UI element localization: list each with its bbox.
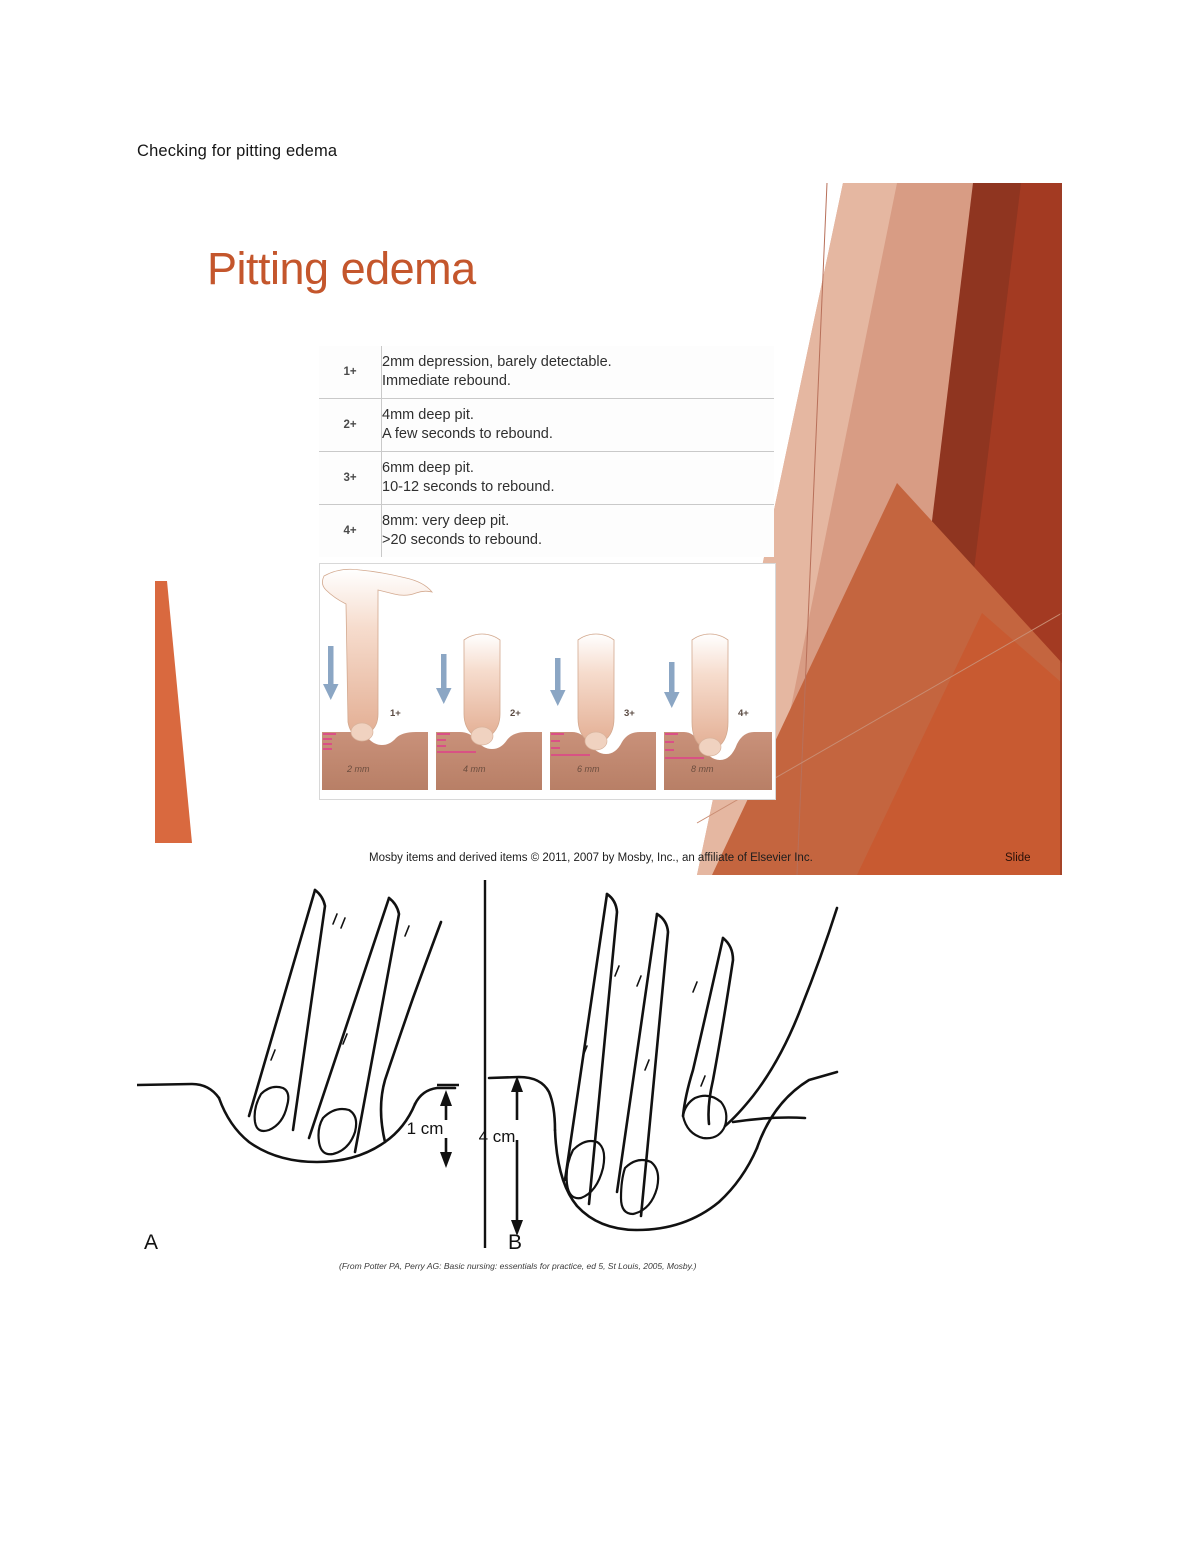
panel-grade-1: 1+ xyxy=(390,708,401,719)
table-row: 3+ 6mm deep pit. 10-12 seconds to reboun… xyxy=(319,452,774,505)
panel-b-measurement-label: 4 cm xyxy=(479,1127,516,1146)
grade-label: 2+ xyxy=(319,399,382,452)
panel-depth-3: 6 mm xyxy=(577,764,600,774)
grade-description: 6mm deep pit. 10-12 seconds to rebound. xyxy=(382,452,775,505)
pitting-edema-grading-table: 1+ 2mm depression, barely detectable. Im… xyxy=(319,346,774,557)
grade-description-line1: 8mm: very deep pit. xyxy=(382,513,509,529)
grade-description: 2mm depression, barely detectable. Immed… xyxy=(382,346,775,399)
grade-description-line2: A few seconds to rebound. xyxy=(382,425,774,444)
grade-description-line1: 6mm deep pit. xyxy=(382,460,474,476)
figure-source-citation: (From Potter PA, Perry AG: Basic nursing… xyxy=(339,1261,696,1271)
grade-description-line2: Immediate rebound. xyxy=(382,372,774,391)
grade-label: 3+ xyxy=(319,452,382,505)
table-row: 4+ 8mm: very deep pit. >20 seconds to re… xyxy=(319,505,774,558)
finger-press-illustration: 1+ 2 mm 2+ 4 mm xyxy=(319,563,776,800)
page-title: Checking for pitting edema xyxy=(137,142,337,161)
grade-description-line2: >20 seconds to rebound. xyxy=(382,531,774,550)
pitting-edema-slide: Pitting edema 1+ 2mm depression, barely … xyxy=(137,183,1062,875)
grade-description-line1: 2mm depression, barely detectable. xyxy=(382,354,612,370)
grade-description-line1: 4mm deep pit. xyxy=(382,407,474,423)
panel-grade-3: 3+ xyxy=(624,708,635,719)
table-row: 1+ 2mm depression, barely detectable. Im… xyxy=(319,346,774,399)
slide-copyright-notice: Mosby items and derived items © 2011, 20… xyxy=(369,852,813,864)
panel-depth-2: 4 mm xyxy=(463,764,486,774)
grade-description-line2: 10-12 seconds to rebound. xyxy=(382,478,774,497)
panel-grade-2: 2+ xyxy=(510,708,521,719)
pitting-depth-line-figure: 1 cm xyxy=(137,880,927,1280)
panel-a-letter: A xyxy=(144,1231,158,1255)
grade-description: 4mm deep pit. A few seconds to rebound. xyxy=(382,399,775,452)
panel-a-measurement-label: 1 cm xyxy=(407,1119,444,1138)
panel-depth-4: 8 mm xyxy=(691,764,714,774)
slide-title: Pitting edema xyxy=(207,243,476,295)
grade-label: 4+ xyxy=(319,505,382,558)
grade-label: 1+ xyxy=(319,346,382,399)
panel-b-letter: B xyxy=(508,1231,522,1255)
panel-grade-4: 4+ xyxy=(738,708,749,719)
slide-number-label: Slide xyxy=(1005,852,1031,864)
panel-depth-1: 2 mm xyxy=(346,764,370,774)
table-row: 2+ 4mm deep pit. A few seconds to reboun… xyxy=(319,399,774,452)
grade-description: 8mm: very deep pit. >20 seconds to rebou… xyxy=(382,505,775,558)
